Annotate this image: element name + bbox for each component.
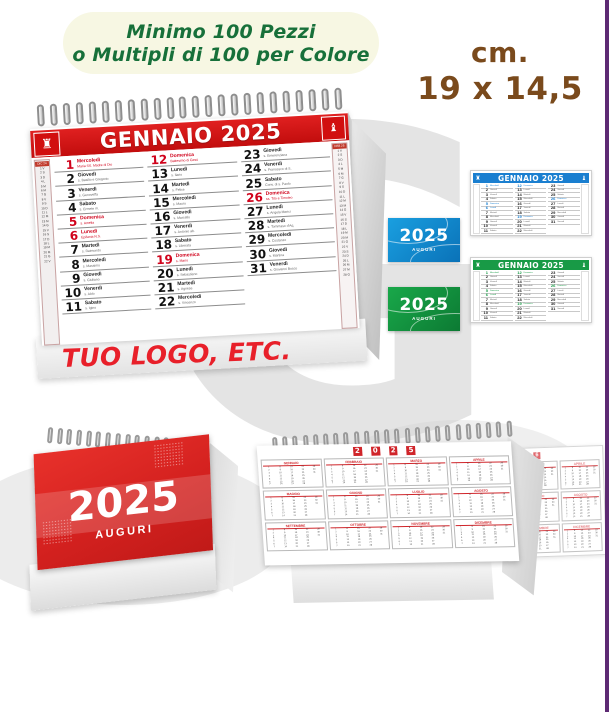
spiral-ring bbox=[66, 429, 72, 445]
spiral-ring bbox=[257, 92, 265, 114]
month-day-col: 293031 bbox=[500, 525, 513, 545]
spiral-ring bbox=[101, 101, 109, 123]
thumb-month-title: GENNAIO 2025 bbox=[483, 174, 579, 183]
month-day-col: 293031 bbox=[592, 498, 600, 519]
day-saint: s. Antonio ab. bbox=[174, 229, 195, 235]
thumb-day-weekday: Venerdì bbox=[490, 225, 497, 227]
thumb-day-weekday: Giovedì bbox=[557, 185, 564, 187]
day-info: MercoledìMaria SS. Madre di Dio bbox=[77, 158, 113, 171]
thumb-day-column-3: 23Giovedì24Venerdì25Sabato26Domenica27Lu… bbox=[547, 184, 581, 234]
day-number: 23 bbox=[240, 148, 261, 161]
thumb-header: ♜ GENNAIO 2025 ♝ bbox=[473, 260, 589, 270]
thumb-day-weekday: Sabato bbox=[490, 285, 496, 287]
month-box: SETTEMBRE1234567891011121314151617181920… bbox=[265, 521, 328, 551]
spiral-ring bbox=[506, 421, 512, 437]
day-saint: s. Aldo bbox=[84, 291, 102, 297]
thumb-day-weekday: Mercoledì bbox=[524, 317, 533, 319]
day-saint: s. Agnese bbox=[177, 286, 195, 292]
thumb-day-row: 11Sabato bbox=[481, 316, 513, 321]
thumb-day-weekday: Mercoledì bbox=[490, 272, 499, 274]
thumb-day-row: 31Venerdì bbox=[548, 307, 580, 312]
thumb-day-weekday: Mercoledì bbox=[524, 198, 533, 200]
thumb-day-weekday: Giovedì bbox=[557, 216, 564, 218]
spiral-ring bbox=[496, 421, 502, 437]
thumb-day-weekday: Lunedì bbox=[557, 290, 563, 292]
day-number: 5 bbox=[57, 216, 78, 229]
thumb-day-column-1: 1Mercoledì2Giovedì3Venerdì4Sabato5Domeni… bbox=[480, 184, 514, 234]
day-number: 1 bbox=[54, 159, 75, 172]
month-day-col: 293031 bbox=[310, 497, 323, 517]
spiral-ring bbox=[63, 103, 71, 125]
thumb-day-weekday: Giovedì bbox=[524, 290, 531, 292]
year-overview-mockup: 2025 GENNAIO1234567891011121314151617181… bbox=[242, 417, 574, 619]
spiral-ring bbox=[166, 97, 174, 119]
spiral-ring bbox=[88, 101, 96, 123]
thumb-day-number: 22 bbox=[515, 229, 522, 233]
day-info: Martedìs. Agnese bbox=[177, 281, 195, 293]
day-column-2: 12DomenicaBattesimo di Gesù13Lunedìs. Il… bbox=[145, 148, 249, 339]
day-info: DomenicaBattesimo di Gesù bbox=[170, 153, 198, 166]
month-day-col: 293031 bbox=[433, 463, 446, 483]
month-box: LUGLIO1234567891011121314151617181920212… bbox=[388, 488, 451, 518]
color-variant-blue[interactable]: 2025 AUGURI bbox=[388, 218, 460, 262]
month-day-col: 293031 bbox=[313, 528, 326, 548]
month-day-grid: 1234567891011121314151617181920212223242… bbox=[453, 494, 511, 515]
thumb-day-weekday: Martedì bbox=[524, 281, 531, 283]
day-saint: Maria SS. Madre di Dio bbox=[77, 163, 112, 170]
thumb-day-weekday: Giovedì bbox=[557, 303, 564, 305]
day-info: Mercoledìs. Vincenzo bbox=[178, 295, 202, 307]
spiral-ring bbox=[425, 426, 431, 442]
day-saint: s. Basilio e Gregorio bbox=[78, 177, 109, 184]
spiral-ring bbox=[308, 89, 316, 111]
day-number: 8 bbox=[59, 258, 80, 271]
day-info: Domenicas. Amelia bbox=[80, 215, 104, 227]
thumb-right-strip bbox=[581, 184, 589, 234]
day-saint: s. Marcello bbox=[173, 215, 192, 221]
day-number: 20 bbox=[153, 267, 174, 280]
day-info: Giovedìs. Martina bbox=[269, 247, 288, 259]
spiral-ring bbox=[415, 427, 421, 443]
spiral-ring bbox=[218, 94, 226, 116]
day-saint: s. Giuliano bbox=[83, 277, 102, 283]
thumb-left-strip bbox=[473, 271, 480, 321]
thumb-day-weekday: Sabato bbox=[557, 194, 563, 196]
month-day-grid: 1234567891011121314151617181920212223242… bbox=[562, 466, 599, 488]
year-calendar-face: 2025 GENNAIO1234567891011121314151617181… bbox=[257, 441, 520, 565]
day-info: Sabatos. Igino bbox=[85, 300, 102, 312]
strip-day: 22 V bbox=[40, 258, 54, 263]
day-number: 15 bbox=[149, 196, 170, 209]
day-info: LunedìEpifania N.S. bbox=[81, 229, 101, 241]
spiral-ring bbox=[404, 428, 410, 444]
thumb-day-weekday: Domenica bbox=[557, 198, 566, 200]
spiral-ring bbox=[486, 422, 492, 438]
main-calendar-mockup: ♜ GENNAIO 2025 ♝ DIC 241 V2 S3 D4 L5 M6 … bbox=[23, 87, 368, 375]
day-info: Giovedìs. Marcello bbox=[173, 210, 192, 222]
day-saint: s. Ermete m. bbox=[79, 206, 98, 212]
month-box: DICEMBRE12345678910111213141516171819202… bbox=[453, 518, 516, 548]
thumb-day-weekday: Lunedì bbox=[524, 276, 530, 278]
day-number: 25 bbox=[242, 177, 263, 190]
month-day-grid: 1234567891011121314151617181920212223242… bbox=[328, 496, 386, 517]
thumb-day-weekday: Mercoledì bbox=[490, 185, 499, 187]
color-variant-green[interactable]: 2025 AUGURI bbox=[388, 287, 460, 331]
thumb-day-weekday: Venerdì bbox=[490, 194, 497, 196]
day-info: Venerdìs. Aldo bbox=[84, 286, 103, 298]
thumb-day-weekday: Venerdì bbox=[557, 189, 564, 191]
calendar-days-body: DIC 241 V2 S3 D4 L5 M6 M7 G8 V9 S10 D11 … bbox=[32, 140, 360, 345]
spiral-ring bbox=[321, 88, 329, 110]
day-number: 10 bbox=[61, 286, 82, 299]
month-day-grid: 1234567891011121314151617181920212223242… bbox=[263, 466, 321, 487]
day-saint: s. Massimo bbox=[83, 263, 107, 269]
thumb-day-weekday: Giovedì bbox=[490, 189, 497, 191]
day-saint: s. Angela Merici bbox=[267, 210, 291, 216]
thumb-day-weekday: Domenica bbox=[490, 290, 499, 292]
day-number: 18 bbox=[152, 239, 173, 252]
day-number: 22 bbox=[155, 295, 176, 308]
month-day-grid: 1234567891011121314151617181920212223242… bbox=[388, 463, 446, 484]
thumb-day-weekday: Mercoledì bbox=[524, 285, 533, 287]
day-number: 13 bbox=[148, 168, 169, 181]
thumb-day-row: 22Mercoledì bbox=[515, 316, 547, 321]
thumb-day-weekday: Sabato bbox=[524, 212, 530, 214]
spiral-ring bbox=[114, 100, 122, 122]
year-digit: 0 bbox=[371, 447, 381, 456]
thumb-day-weekday: Venerdì bbox=[557, 276, 564, 278]
thumb-day-weekday: Martedì bbox=[557, 294, 564, 296]
thumbnail-calendar-blue[interactable]: ♜ GENNAIO 2025 ♝ 1Mercoledì2Giovedì3Vene… bbox=[470, 170, 592, 236]
emblem-icon: ♜ bbox=[473, 261, 483, 270]
emblem-icon-right: ♝ bbox=[321, 115, 346, 140]
thumb-body: 1Mercoledì2Giovedì3Venerdì4Sabato5Domeni… bbox=[473, 184, 589, 234]
month-day-col: 293031 bbox=[436, 495, 449, 515]
spiral-ring bbox=[75, 102, 83, 124]
day-saint: s. Emerenziana bbox=[263, 153, 287, 159]
thumb-day-weekday: Giovedì bbox=[490, 221, 497, 223]
month-box: MARZO12345678910111213141516171819202122… bbox=[386, 456, 449, 486]
day-saint: Epifania N.S. bbox=[81, 234, 101, 240]
thumb-day-weekday: Domenica bbox=[524, 185, 533, 187]
spiral-ring bbox=[37, 104, 45, 126]
month-day-grid: 1234567891011121314151617181920212223242… bbox=[455, 525, 513, 546]
day-info: Giovedìs. Basilio e Gregorio bbox=[78, 172, 109, 185]
month-day-col: 293031 bbox=[371, 465, 384, 485]
spiral-ring bbox=[140, 98, 148, 120]
thumb-day-weekday: Lunedì bbox=[557, 203, 563, 205]
spiral-ring bbox=[465, 423, 471, 439]
thumb-day-weekday: Martedì bbox=[524, 312, 531, 314]
thumb-day-column-2: 12Domenica13Lunedì14Martedì15Mercoledì16… bbox=[514, 184, 548, 234]
spiral-ring bbox=[476, 423, 482, 439]
day-info: SabatoConv. di s. Paolo bbox=[265, 176, 291, 188]
day-number: 29 bbox=[245, 233, 266, 246]
spiral-ring bbox=[455, 424, 461, 440]
thumb-day-number: 22 bbox=[515, 316, 522, 320]
size-unit: cm. bbox=[400, 36, 600, 69]
year-digit: 5 bbox=[406, 446, 416, 455]
month-box: OTTOBRE123456789101112131415161718192021… bbox=[328, 520, 391, 550]
day-saint: s. Tommaso d'Aq. bbox=[267, 224, 294, 230]
thumb-day-row: 11Sabato bbox=[481, 229, 513, 234]
thumb-day-weekday: Lunedì bbox=[490, 207, 496, 209]
thumb-day-weekday: Venerdì bbox=[524, 207, 531, 209]
day-number: 6 bbox=[58, 230, 79, 243]
day-saint: s. Igino bbox=[85, 305, 102, 311]
day-info: Domenicas. Mario bbox=[176, 252, 200, 264]
thumb-day-number: 31 bbox=[548, 307, 555, 311]
spiral-ring bbox=[244, 93, 252, 115]
month-day-col: 293031 bbox=[593, 529, 601, 550]
thumb-day-weekday: Martedì bbox=[490, 212, 497, 214]
day-info: Sabatos. Liberata bbox=[175, 239, 192, 251]
day-info: Venerdìs. Giovanni Bosco bbox=[270, 261, 298, 274]
month-day-grid: 1234567891011121314151617181920212223242… bbox=[267, 528, 325, 549]
spiral-ring bbox=[57, 428, 63, 444]
thumb-day-weekday: Venerdì bbox=[490, 312, 497, 314]
thumb-header: ♜ GENNAIO 2025 ♝ bbox=[473, 173, 589, 183]
day-info: Lunedìs. Ilario bbox=[171, 168, 188, 180]
day-saint: s. Amelia bbox=[80, 220, 104, 226]
thumb-day-weekday: Giovedì bbox=[557, 272, 564, 274]
thumb-day-weekday: Sabato bbox=[490, 230, 496, 232]
spiral-ring bbox=[47, 427, 53, 443]
month-box: GENNAIO123456789101112131415161718192021… bbox=[261, 459, 324, 489]
day-number: 27 bbox=[243, 205, 264, 218]
day-info: Martedìs. Felice bbox=[172, 182, 190, 194]
thumb-day-weekday: Giovedì bbox=[490, 308, 497, 310]
month-box: FEBBRAIO12345678910111213141516171819202… bbox=[323, 457, 386, 487]
day-saint: s. Martina bbox=[269, 252, 288, 258]
thumb-day-weekday: Mercoledì bbox=[490, 216, 499, 218]
product-image-stage: G Minimo 100 Pezzi o Multipli di 100 per… bbox=[0, 0, 609, 712]
spiral-ring bbox=[282, 91, 290, 113]
thumb-day-weekday: Lunedì bbox=[524, 221, 530, 223]
month-box: AGOSTO1234567891011121314151617181920212… bbox=[450, 487, 513, 517]
thumb-day-weekday: Mercoledì bbox=[557, 299, 566, 301]
cover-calendar-mockup: 2025 AUGURI bbox=[21, 428, 237, 615]
day-number: 26 bbox=[243, 191, 264, 204]
month-day-grid: 1234567891011121314151617181920212223242… bbox=[390, 495, 448, 516]
day-number: 11 bbox=[62, 300, 83, 313]
thumb-day-number: 11 bbox=[481, 229, 488, 233]
month-day-grid: 1234567891011121314151617181920212223242… bbox=[330, 527, 388, 548]
day-saint: s. Costanzo bbox=[268, 238, 292, 244]
day-number: 7 bbox=[59, 244, 80, 257]
day-info: Mercoledìs. Massimo bbox=[82, 258, 106, 270]
day-column-3: 23Giovedìs. Emerenziana24Venerdìs. Franc… bbox=[238, 143, 342, 334]
spiral-ring bbox=[127, 99, 135, 121]
month-day-grid: 1234567891011121314151617181920212223242… bbox=[326, 465, 384, 486]
month-day-col: 293031 bbox=[308, 466, 321, 486]
day-number: 21 bbox=[154, 281, 175, 294]
thumb-day-column-2: 12Domenica13Lunedì14Martedì15Mercoledì16… bbox=[514, 271, 548, 321]
month-day-col: 293031 bbox=[375, 527, 388, 547]
month-day-col: 293031 bbox=[591, 466, 599, 487]
day-number: 14 bbox=[149, 182, 170, 195]
spiral-ring bbox=[445, 425, 451, 441]
dot-pattern-icon bbox=[153, 441, 184, 468]
thumb-day-weekday: Domenica bbox=[524, 303, 533, 305]
month-day-col: 293031 bbox=[496, 462, 509, 482]
year-month-grid: GENNAIO123456789101112131415161718192021… bbox=[261, 455, 516, 551]
year-digit: 2 bbox=[353, 447, 363, 456]
day-info: Sabatos. Ermete m. bbox=[79, 201, 99, 213]
thumb-day-weekday: Domenica bbox=[557, 285, 566, 287]
emblem-icon-right: ♝ bbox=[579, 261, 589, 270]
promo-line-2: o Multipli di 100 per Colore bbox=[72, 44, 369, 66]
thumb-left-strip bbox=[473, 184, 480, 234]
thumb-day-weekday: Domenica bbox=[524, 216, 533, 218]
day-info: Martedìs. Raimondo bbox=[82, 244, 102, 256]
day-number: 9 bbox=[60, 272, 81, 285]
day-saint: s. Giovanni Bosco bbox=[270, 266, 298, 273]
day-info: Domenicass. Tito e Timoteo bbox=[266, 190, 293, 202]
day-saint: s. Sebastiano bbox=[177, 272, 198, 278]
thumb-day-row: 31Venerdì bbox=[548, 220, 580, 225]
spiral-ring bbox=[50, 104, 58, 126]
thumb-day-weekday: Sabato bbox=[524, 299, 530, 301]
spiral-ring bbox=[95, 431, 101, 447]
spiral-ring bbox=[435, 426, 441, 442]
spiral-ring bbox=[76, 430, 82, 446]
month-box: MAGGIO1234567891011121314151617181920212… bbox=[263, 490, 326, 520]
day-saint: s. Mauro bbox=[173, 201, 197, 207]
thumb-day-weekday: Domenica bbox=[490, 203, 499, 205]
thumb-day-weekday: Martedì bbox=[524, 225, 531, 227]
thumb-day-weekday: Mercoledì bbox=[557, 212, 566, 214]
thumb-day-weekday: Lunedì bbox=[524, 189, 530, 191]
thumb-day-number: 11 bbox=[481, 316, 488, 320]
day-info: Lunedìs. Angela Merici bbox=[266, 205, 291, 217]
thumb-day-number: 31 bbox=[548, 220, 555, 224]
thumb-day-weekday: Venerdì bbox=[557, 308, 564, 310]
day-saint: s. Liberata bbox=[175, 244, 192, 250]
day-saint: s. Felice bbox=[172, 187, 190, 193]
thumb-body: 1Mercoledì2Giovedì3Venerdì4Sabato5Domeni… bbox=[473, 271, 589, 321]
month-day-grid: 1234567891011121314151617181920212223242… bbox=[393, 526, 451, 547]
day-info: Mercoledìs. Mauro bbox=[172, 196, 196, 208]
thumb-day-column-1: 1Mercoledì2Giovedì3Venerdì4Sabato5Domeni… bbox=[480, 271, 514, 321]
month-box: APRILE1234567891011121314151617181920212… bbox=[448, 455, 511, 485]
page-right-edge bbox=[605, 0, 609, 712]
thumb-day-weekday: Giovedì bbox=[490, 276, 497, 278]
emblem-icon: ♜ bbox=[33, 131, 60, 156]
day-number: 31 bbox=[247, 262, 268, 275]
day-saint: Conv. di s. Paolo bbox=[265, 181, 291, 187]
day-saint: Battesimo di Gesù bbox=[170, 158, 198, 165]
thumb-day-weekday: Venerdì bbox=[490, 281, 497, 283]
month-day-col: 293031 bbox=[438, 526, 451, 546]
thumb-day-column-3: 23Giovedì24Venerdì25Sabato26Domenica27Lu… bbox=[547, 271, 581, 321]
day-info: Martedìs. Tommaso d'Aq. bbox=[267, 219, 294, 231]
thumb-day-weekday: Sabato bbox=[490, 317, 496, 319]
day-number: 30 bbox=[246, 248, 267, 261]
day-number: 16 bbox=[150, 210, 171, 223]
day-number: 12 bbox=[147, 154, 168, 167]
year-digit: 2 bbox=[388, 446, 398, 455]
thumb-day-weekday: Sabato bbox=[490, 198, 496, 200]
spiral-ring bbox=[179, 96, 187, 118]
thumb-day-row: 22Mercoledì bbox=[515, 229, 547, 234]
day-number: 24 bbox=[241, 163, 262, 176]
thumb-day-weekday: Domenica bbox=[524, 272, 533, 274]
thumb-day-weekday: Lunedì bbox=[524, 308, 530, 310]
day-info: Giovedìs. Giuliano bbox=[83, 272, 102, 284]
day-info: Mercoledìs. Costanzo bbox=[268, 233, 292, 245]
month-day-col: 293031 bbox=[498, 494, 511, 514]
thumb-right-strip bbox=[581, 271, 589, 321]
thumb-day-weekday: Mercoledì bbox=[524, 230, 533, 232]
promo-banner: Minimo 100 Pezzi o Multipli di 100 per C… bbox=[63, 12, 379, 74]
day-info: Giovedìs. Emerenziana bbox=[263, 148, 287, 160]
day-saint: s. Genoveffa bbox=[79, 192, 98, 198]
spiral-ring bbox=[86, 430, 92, 446]
day-number: 2 bbox=[55, 173, 76, 186]
spiral-ring bbox=[269, 91, 277, 113]
day-number: 28 bbox=[244, 219, 265, 232]
day-saint: s. Raimondo bbox=[82, 249, 101, 255]
spiral-ring bbox=[153, 98, 161, 120]
thumb-day-weekday: Sabato bbox=[557, 281, 563, 283]
day-saint: s. Vincenzo bbox=[178, 300, 202, 306]
day-saint: s. Francesco di S. bbox=[264, 167, 291, 174]
spiral-ring bbox=[334, 88, 342, 110]
month-box: NOVEMBRE12345678910111213141516171819202… bbox=[390, 519, 453, 549]
thumb-day-weekday: Venerdì bbox=[557, 221, 564, 223]
thumb-day-weekday: Martedì bbox=[524, 194, 531, 196]
month-box: GIUGNO1234567891011121314151617181920212… bbox=[325, 489, 388, 519]
month-day-grid: 1234567891011121314151617181920212223242… bbox=[265, 497, 323, 518]
day-number: 19 bbox=[153, 253, 174, 266]
spiral-ring bbox=[192, 96, 200, 118]
thumbnail-calendar-green[interactable]: ♜ GENNAIO 2025 ♝ 1Mercoledì2Giovedì3Vene… bbox=[470, 257, 592, 323]
day-saint: s. Ilario bbox=[171, 173, 188, 179]
day-saint: ss. Tito e Timoteo bbox=[266, 195, 293, 201]
day-number: 3 bbox=[55, 187, 76, 200]
day-info: Lunedìs. Sebastiano bbox=[176, 267, 197, 279]
spiral-ring bbox=[205, 95, 213, 117]
spiral-ring bbox=[231, 93, 239, 115]
thumb-day-weekday: Martedì bbox=[557, 207, 564, 209]
emblem-icon-right: ♝ bbox=[579, 174, 589, 183]
thumb-day-weekday: Venerdì bbox=[524, 294, 531, 296]
thumb-month-title: GENNAIO 2025 bbox=[483, 261, 579, 270]
cover-face: 2025 AUGURI bbox=[34, 434, 213, 570]
size-dimensions: 19 x 14,5 bbox=[400, 71, 600, 107]
thumb-day-weekday: Martedì bbox=[490, 299, 497, 301]
thumb-day-weekday: Giovedì bbox=[524, 203, 531, 205]
promo-line-1: Minimo 100 Pezzi bbox=[126, 21, 315, 43]
thumb-day-weekday: Mercoledì bbox=[490, 303, 499, 305]
day-info: Venerdìs. Francesco di S. bbox=[264, 162, 292, 174]
day-info: Venerdìs. Genoveffa bbox=[78, 187, 98, 199]
day-saint: s. Mario bbox=[176, 257, 200, 263]
day-info: Venerdìs. Antonio ab. bbox=[174, 224, 195, 236]
day-column-1: 1MercoledìMaria SS. Madre di Dio2Giovedì… bbox=[52, 154, 156, 345]
size-label: cm. 19 x 14,5 bbox=[400, 36, 600, 107]
month-day-col: 293031 bbox=[373, 496, 386, 516]
month-day-grid: 1234567891011121314151617181920212223242… bbox=[451, 462, 509, 483]
emblem-icon: ♜ bbox=[473, 174, 483, 183]
day-number: 4 bbox=[56, 201, 77, 214]
thumb-day-weekday: Lunedì bbox=[490, 294, 496, 296]
strip-day: 28 G bbox=[340, 272, 354, 277]
spiral-ring bbox=[295, 90, 303, 112]
day-number: 17 bbox=[151, 224, 172, 237]
